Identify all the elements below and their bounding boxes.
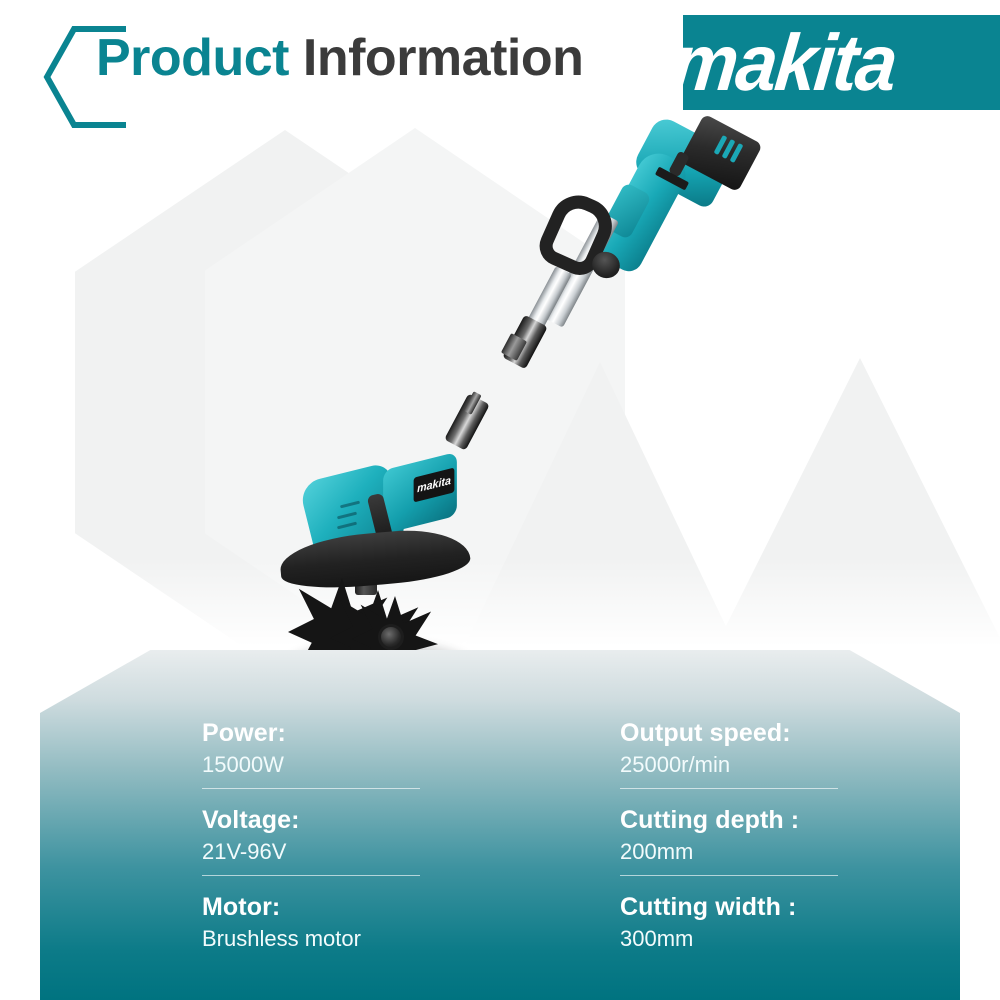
spec-divider — [202, 788, 420, 789]
spec-label: Output speed: — [620, 718, 960, 749]
spec-label: Power: — [202, 718, 500, 749]
spec-value: 21V-96V — [202, 838, 500, 867]
spec-value: Brushless motor — [202, 925, 500, 954]
spec-label: Cutting width : — [620, 892, 960, 923]
page-title: Product Information — [96, 32, 583, 84]
spec-item-cutting-width: Cutting width : 300mm — [620, 892, 960, 963]
page-title-primary: Product — [96, 29, 289, 87]
product-information-banner: Product Information makita — [0, 0, 1000, 1000]
spec-value: 25000r/min — [620, 751, 960, 780]
specification-column-right: Output speed: 25000r/min Cutting depth :… — [500, 718, 960, 1000]
spec-item-cutting-depth: Cutting depth : 200mm — [620, 805, 960, 876]
spec-label: Motor: — [202, 892, 500, 923]
spec-label: Cutting depth : — [620, 805, 960, 836]
makita-logo-text: makita — [683, 23, 899, 103]
spec-item-motor: Motor: Brushless motor — [202, 892, 500, 963]
spec-value: 15000W — [202, 751, 500, 780]
spec-divider — [620, 788, 838, 789]
specification-column-left: Power: 15000W Voltage: 21V-96V Motor: Br… — [40, 718, 500, 1000]
spec-label: Voltage: — [202, 805, 500, 836]
spec-value: 200mm — [620, 838, 960, 867]
spec-value: 300mm — [620, 925, 960, 954]
specification-grid: Power: 15000W Voltage: 21V-96V Motor: Br… — [40, 650, 960, 1000]
spec-item-output-speed: Output speed: 25000r/min — [620, 718, 960, 789]
spec-item-power: Power: 15000W — [202, 718, 500, 789]
makita-logo: makita — [683, 15, 1000, 110]
spec-divider — [202, 875, 420, 876]
spec-item-voltage: Voltage: 21V-96V — [202, 805, 500, 876]
page-title-secondary: Information — [303, 29, 583, 87]
spec-divider — [620, 875, 838, 876]
